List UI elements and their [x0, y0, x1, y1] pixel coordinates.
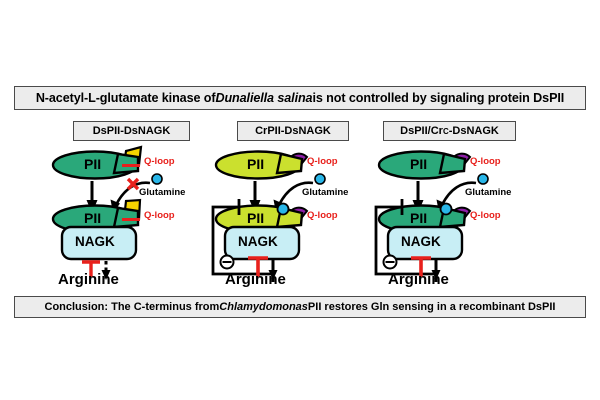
pii-label-top: PII [84, 156, 101, 172]
panel-header-label: DsPII-DsNAGK [93, 125, 171, 137]
bound-glutamine-dot [278, 204, 289, 215]
panel-header-label-prefix: DsPII/Cr [400, 125, 443, 137]
glutamine-molecule-dot [478, 174, 488, 184]
title-species-italic: Dunaliella salina [215, 91, 312, 105]
nagk-label: NAGK [75, 234, 115, 249]
nagk-label: NAGK [238, 234, 278, 249]
panel-header-dspii-dsnagk: DsPII-DsNAGK [73, 121, 190, 141]
qloop-label-bottom: Q-loop [307, 210, 338, 221]
glutamine-label: Glutamine [139, 187, 185, 198]
title-text-prefix: N-acetyl-L-glutamate kinase of [36, 91, 216, 105]
qloop-label-bottom: Q-loop [144, 210, 175, 221]
panel-header-label-suffix: -DsNAGK [449, 125, 499, 137]
pii-ctail-top [114, 154, 138, 173]
pii-label-top: PII [247, 156, 264, 172]
pii-ctail-bottom [114, 208, 138, 227]
conclusion-text-prefix: Conclusion: The C-terminus from [45, 301, 220, 313]
panel-dspii-dsnagk: Q-loop Q-loop Glutamine PII PII NAGK Arg… [40, 143, 230, 288]
negative-feedback-symbol-circle [221, 256, 234, 269]
arginine-label: Arginine [225, 271, 286, 288]
conclusion-banner: Conclusion: The C-terminus from Chlamydo… [14, 296, 586, 318]
panel-header-label: CrPII-DsNAGK [255, 125, 331, 137]
glutamine-label: Glutamine [302, 187, 348, 198]
panel-crpii-dsnagk: Q-loop Q-loop Glutamine PII PII NAGK Arg… [203, 143, 393, 288]
pii-label-top: PII [410, 156, 427, 172]
arginine-label: Arginine [388, 271, 449, 288]
negative-feedback-symbol-circle [384, 256, 397, 269]
glutamine-molecule-dot [315, 174, 325, 184]
panel-header-crpii-dsnagk: CrPII-DsNAGK [237, 121, 349, 141]
bound-glutamine-dot [441, 204, 452, 215]
panel-dspii-crc-dsnagk: Q-loop Q-loop Glutamine PII PII NAGK Arg… [366, 143, 556, 288]
qloop-label-top: Q-loop [307, 156, 338, 167]
qloop-label-top: Q-loop [144, 156, 175, 167]
pii-label-bottom: PII [84, 210, 101, 226]
panel-header-dspii-crc-dsnagk: DsPII/CrC-DsNAGK [383, 121, 516, 141]
glutamine-molecule-dot [152, 174, 162, 184]
glutamine-label: Glutamine [465, 187, 511, 198]
arginine-label: Arginine [58, 271, 119, 288]
conclusion-species-italic: Chlamydomonas [219, 301, 308, 313]
title-text-suffix: is not controlled by signaling protein D… [312, 91, 564, 105]
nagk-label: NAGK [401, 234, 441, 249]
qloop-label-bottom: Q-loop [470, 210, 501, 221]
qloop-label-top: Q-loop [470, 156, 501, 167]
pii-label-bottom: PII [247, 210, 264, 226]
conclusion-text-suffix: PII restores Gln sensing in a recombinan… [308, 301, 556, 313]
figure-canvas: N-acetyl-L-glutamate kinase of Dunaliell… [0, 0, 600, 400]
figure-title-banner: N-acetyl-L-glutamate kinase of Dunaliell… [14, 86, 586, 110]
pii-label-bottom: PII [410, 210, 427, 226]
